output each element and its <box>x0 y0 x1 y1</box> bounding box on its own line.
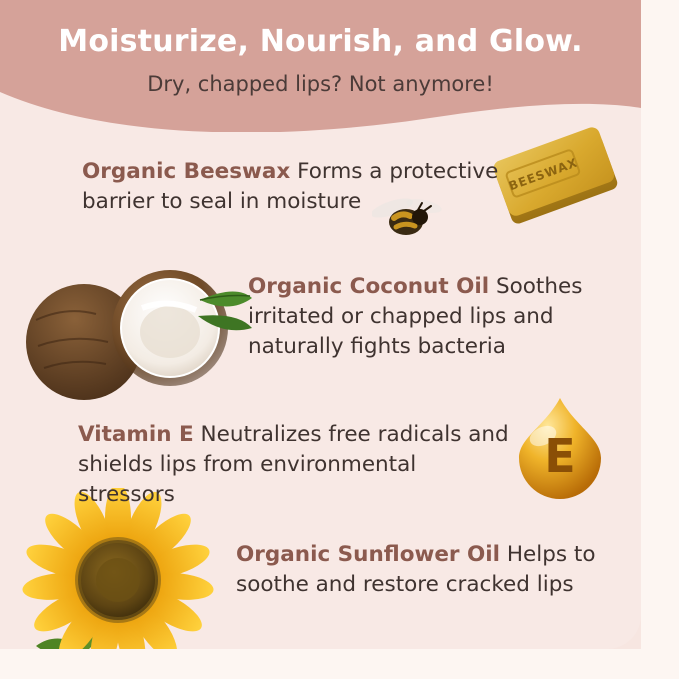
benefit-item-beeswax: Organic Beeswax Forms a protective barri… <box>82 157 502 217</box>
vitamin-e-letter: E <box>544 429 575 483</box>
benefit-item-sunflower-oil: Organic Sunflower Oil Helps to soothe an… <box>236 540 596 600</box>
vitamin-e-droplet-image: E <box>505 392 615 502</box>
benefit-item-coconut-oil: Organic Coconut Oil Soothes irritated or… <box>248 272 593 362</box>
content-panel: Moisturize, Nourish, and Glow. Dry, chap… <box>0 0 641 649</box>
coconut-image <box>22 250 252 410</box>
benefit-lead-beeswax: Organic Beeswax <box>82 159 290 184</box>
right-margin <box>641 0 679 679</box>
beeswax-bar-image: BEESWAX <box>487 118 627 243</box>
benefit-lead-sunflower-oil: Organic Sunflower Oil <box>236 542 500 567</box>
sunflower-image <box>18 488 233 649</box>
benefit-item-vitamin-e: Vitamin E Neutralizes free radicals and … <box>78 420 518 510</box>
benefit-lead-vitamin-e: Vitamin E <box>78 422 194 447</box>
product-benefits-graphic: Moisturize, Nourish, and Glow. Dry, chap… <box>0 0 679 679</box>
benefit-lead-coconut-oil: Organic Coconut Oil <box>248 274 489 299</box>
bottom-margin <box>0 649 679 679</box>
page-title: Moisturize, Nourish, and Glow. <box>0 24 641 59</box>
